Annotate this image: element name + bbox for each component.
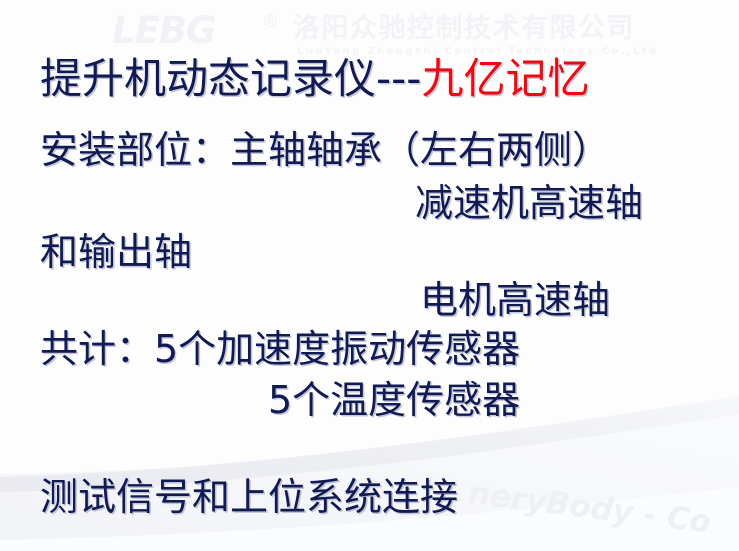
content-line-total-vibration-sensors: 共计：5个加速度振动传感器 <box>40 330 520 368</box>
lebg-logo-text: LEBG <box>112 12 215 49</box>
slide-title: 提升机动态记录仪---九亿记忆 <box>40 58 589 100</box>
company-name-chinese: 洛阳众驰控制技术有限公司 <box>293 15 635 42</box>
content-line-output-shaft: 和输出轴 <box>40 233 192 271</box>
content-line-total-temperature-sensors: 5个温度传感器 <box>268 381 520 419</box>
slide-title-main: 提升机动态记录仪--- <box>40 54 421 103</box>
slide-canvas: LEBG ® 洛阳众驰控制技术有限公司 LuoYang Zhongchi Con… <box>0 0 739 551</box>
company-watermark: LEBG ® 洛阳众驰控制技术有限公司 LuoYang Zhongchi Con… <box>0 6 739 58</box>
bottom-brand-watermark: neryBody - Co <box>466 478 712 539</box>
slide-title-highlight: 九亿记忆 <box>421 54 589 103</box>
registered-trademark-icon: ® <box>262 14 279 31</box>
content-line-signal-connection: 测试信号和上位系统连接 <box>40 478 458 516</box>
content-line-reducer-high-speed-shaft: 减速机高速轴 <box>415 184 643 222</box>
content-line-install-location: 安装部位：主轴轴承（左右两侧） <box>40 131 610 169</box>
content-line-motor-high-speed-shaft: 电机高速轴 <box>420 281 610 319</box>
